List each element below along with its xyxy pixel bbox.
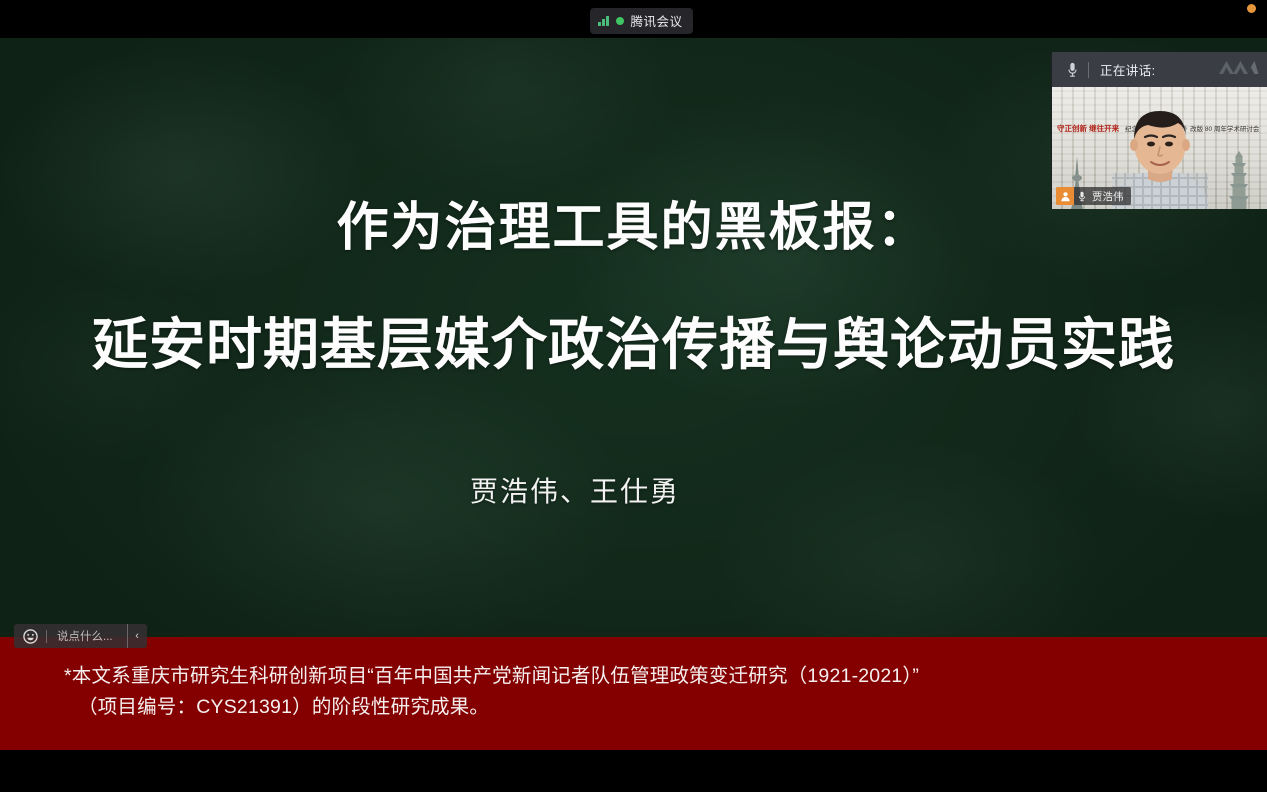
footnote-line-2: （项目编号：CYS21391）的阶段性研究成果。 xyxy=(64,692,1227,723)
chat-input-bar[interactable]: 说点什么... ‹ xyxy=(14,624,147,648)
tencent-meeting-logo-icon xyxy=(1217,59,1259,81)
signal-bars-icon xyxy=(598,16,609,26)
footnote-banner: *本文系重庆市研究生科研创新项目“百年中国共产党新闻记者队伍管理政策变迁研究（1… xyxy=(0,637,1267,750)
microphone-icon xyxy=(1074,191,1090,202)
participant-name-label: 贾浩伟 xyxy=(1090,189,1131,204)
app-indicator-pill[interactable]: 腾讯会议 xyxy=(590,8,693,34)
slide-title-block: 作为治理工具的黑板报： 延安时期基层媒介政治传播与舆论动员实践 xyxy=(0,198,1267,379)
participant-video-feed[interactable]: 守正创新 继往开来 纪念延安《解放日报》改版 80 周年学术研讨会 xyxy=(1052,87,1267,209)
meeting-screen: 腾讯会议 作为治理工具的黑板报： 延安时期基层媒介政治传播与舆论动员实践 贾浩伟… xyxy=(0,0,1267,792)
header-divider xyxy=(1088,62,1089,78)
video-panel-header: 正在讲话: xyxy=(1052,52,1267,87)
participant-nametag: 贾浩伟 xyxy=(1056,187,1131,205)
bottom-letterbox xyxy=(0,750,1267,792)
participant-video-panel[interactable]: 正在讲话: 守正创新 继往开来 纪念延安《解放日报》改版 80 周年学术研讨会 xyxy=(1051,52,1267,209)
recording-indicator-dot xyxy=(616,17,624,25)
slide-title-line-2: 延安时期基层媒介政治传播与舆论动员实践 xyxy=(0,311,1267,378)
chat-input-placeholder[interactable]: 说点什么... xyxy=(47,628,127,644)
chevron-left-icon[interactable]: ‹ xyxy=(127,624,147,648)
smiley-face-icon[interactable] xyxy=(14,624,46,648)
top-system-bar: 腾讯会议 xyxy=(0,0,1267,38)
person-avatar-icon xyxy=(1056,187,1074,205)
microphone-icon xyxy=(1062,62,1082,78)
app-name-label: 腾讯会议 xyxy=(631,11,683,30)
footnote-line-1: *本文系重庆市研究生科研创新项目“百年中国共产党新闻记者队伍管理政策变迁研究（1… xyxy=(64,661,1227,692)
speaking-status-label: 正在讲话: xyxy=(1100,60,1155,79)
status-indicator-dot[interactable] xyxy=(1247,4,1256,13)
slide-authors: 贾浩伟、王仕勇 xyxy=(0,470,1150,510)
